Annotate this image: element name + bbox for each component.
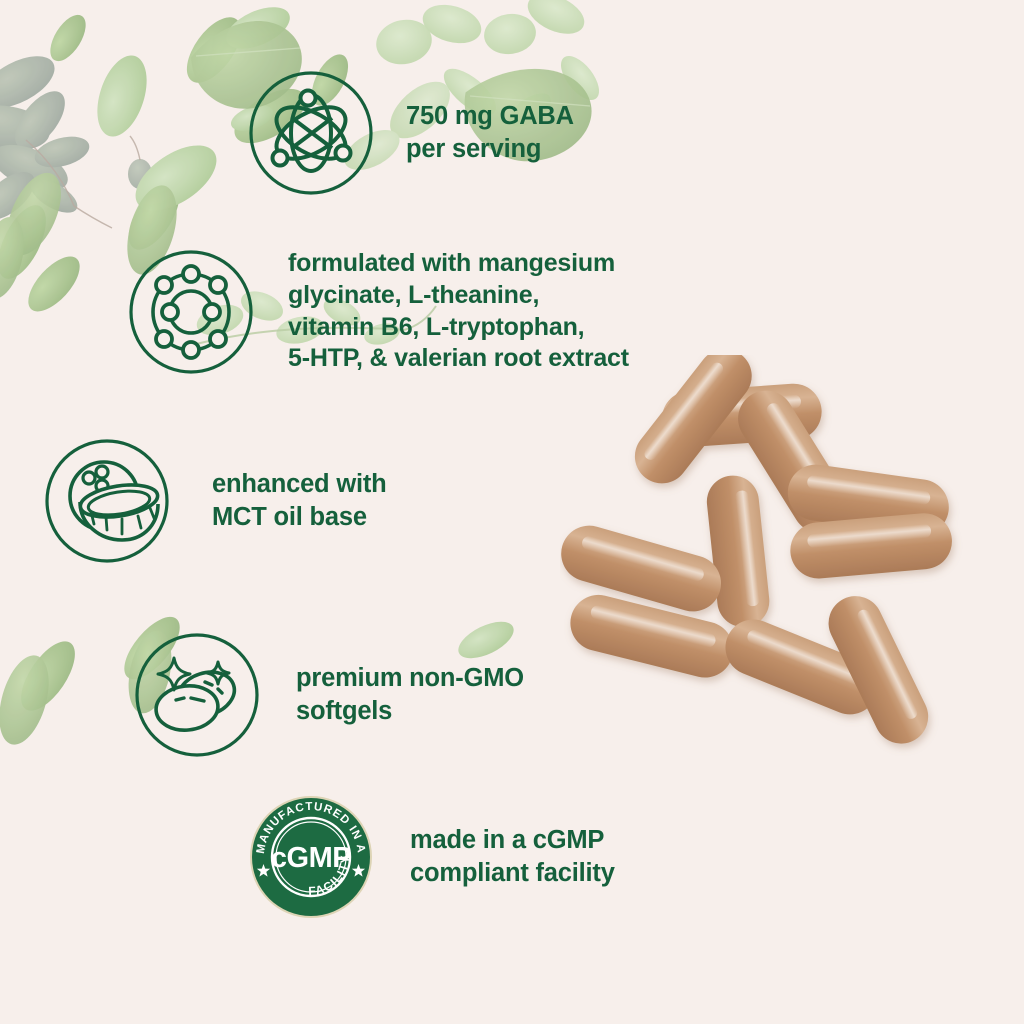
product-feature-infographic: 750 mg GABA per serving formu: [0, 0, 1024, 1024]
feature-row-mct: enhanced with MCT oil base: [44, 438, 387, 564]
seal-center-label: cGMP: [271, 842, 351, 874]
feature-row-formulation: formulated with mangesium glycinate, L-t…: [128, 248, 629, 375]
atom-icon: [248, 70, 374, 196]
feature-row-softgel: premium non-GMO softgels: [134, 632, 524, 758]
feature-row-gaba: 750 mg GABA per serving: [248, 70, 574, 196]
eucalyptus-pod: [128, 159, 152, 189]
molecule-ring-icon: [128, 249, 254, 375]
coconut-icon: [44, 438, 170, 564]
softgel-sparkle-icon: [134, 632, 260, 758]
feature-label-mct: enhanced with MCT oil base: [212, 468, 387, 534]
feature-label-gaba: 750 mg GABA per serving: [406, 100, 574, 166]
feature-row-cgmp: MANUFACTURED IN A FACILITY cGMP made in …: [248, 794, 615, 920]
feature-label-cgmp: made in a cGMP compliant facility: [410, 824, 615, 890]
feature-label-softgel: premium non-GMO softgels: [296, 662, 524, 728]
feature-label-formulation: formulated with mangesium glycinate, L-t…: [288, 248, 629, 375]
softgel-capsule-pile: [560, 355, 990, 775]
cgmp-seal-icon: MANUFACTURED IN A FACILITY cGMP: [248, 794, 374, 920]
